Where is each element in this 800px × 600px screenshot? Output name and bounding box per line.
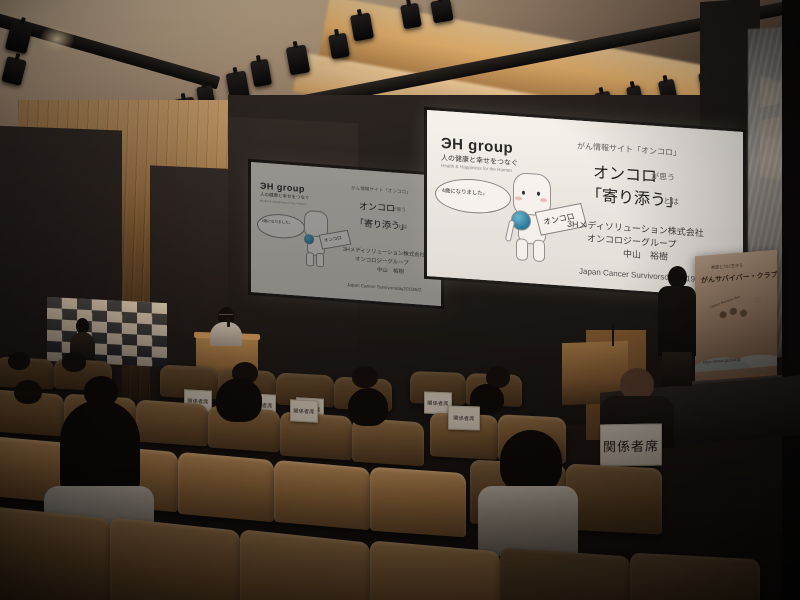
slide-title-line1-suffix: が思う bbox=[651, 171, 675, 184]
rollup-banner: 希望と力に生きる がんサバイバー・クラブ Cancer Survivor clu… bbox=[695, 250, 777, 388]
slide-speech-bubble: 4歳になりました。 bbox=[257, 212, 305, 240]
mascot-banner-label: オンコロ bbox=[323, 235, 342, 244]
slide-title-line1-suffix: が思う bbox=[392, 206, 406, 213]
standing-man-legs bbox=[662, 352, 692, 386]
seat bbox=[136, 399, 208, 446]
rollup-banner-shading bbox=[695, 250, 777, 388]
spotlight-icon bbox=[400, 3, 422, 30]
seat bbox=[566, 463, 662, 534]
audience-head bbox=[500, 430, 562, 494]
mascot-globe-icon bbox=[304, 234, 314, 245]
slide-eyebrow: がん情報サイト「オンコロ」 bbox=[577, 140, 681, 158]
audience-head bbox=[62, 352, 86, 372]
spotlight-icon bbox=[430, 0, 454, 24]
mascot-eye bbox=[537, 192, 540, 196]
audience-head bbox=[352, 366, 378, 388]
slide-speech-bubble-text: 4歳になりました。 bbox=[262, 219, 293, 226]
reserved-seat-sign: 関係者席 bbox=[290, 399, 318, 422]
speaker-microphone-icon bbox=[227, 318, 230, 327]
slide-speech-bubble: 4歳になりました。 bbox=[435, 177, 511, 216]
slide-eyebrow: がん情報サイト「オンコロ」 bbox=[351, 185, 411, 195]
audience-head bbox=[8, 352, 30, 370]
microphone-stand-icon bbox=[612, 324, 614, 346]
mascot-cheek bbox=[515, 196, 522, 200]
slide-title-line2-suffix: とは bbox=[398, 224, 407, 231]
seat bbox=[178, 452, 274, 522]
seat bbox=[500, 547, 630, 600]
seat bbox=[274, 460, 370, 530]
left-slide-content: ЭH group 人の健康と幸せをつなぐ Health & Happiness … bbox=[251, 162, 441, 306]
speaker-body bbox=[210, 322, 242, 346]
audience-head bbox=[348, 388, 388, 426]
reserved-seat-sign: 関係者席 bbox=[448, 405, 480, 430]
audience-head bbox=[14, 380, 42, 404]
reserved-seat-sign: 関係者席 bbox=[600, 423, 662, 466]
seat bbox=[630, 553, 760, 600]
left-projection-screen: ЭH group 人の健康と幸せをつなぐ Health & Happiness … bbox=[251, 162, 441, 306]
seat bbox=[0, 505, 110, 600]
spotlight-glow bbox=[40, 26, 74, 52]
standing-man-body bbox=[658, 286, 696, 356]
mascot-cheek bbox=[540, 198, 547, 202]
speaker-glasses-icon bbox=[219, 314, 233, 318]
standing-man-head bbox=[668, 266, 687, 288]
slide-title-line1: オンコロ bbox=[359, 199, 395, 215]
slide-title-line2-suffix: とは bbox=[663, 195, 679, 207]
auditorium-photo: ЭH group 人の健康と幸せをつなぐ Health & Happiness … bbox=[0, 0, 800, 600]
slide-speech-bubble-text: 4歳になりました。 bbox=[442, 186, 488, 197]
dark-wall-far-right bbox=[782, 0, 800, 600]
audience-head bbox=[216, 378, 262, 422]
seat bbox=[370, 467, 466, 538]
spotlight-icon bbox=[350, 12, 374, 41]
audience-body bbox=[478, 486, 578, 556]
seat bbox=[370, 540, 500, 600]
seat bbox=[110, 517, 240, 600]
spotlight-icon bbox=[328, 33, 350, 60]
mascot-eye bbox=[522, 191, 525, 195]
seat bbox=[240, 529, 370, 600]
